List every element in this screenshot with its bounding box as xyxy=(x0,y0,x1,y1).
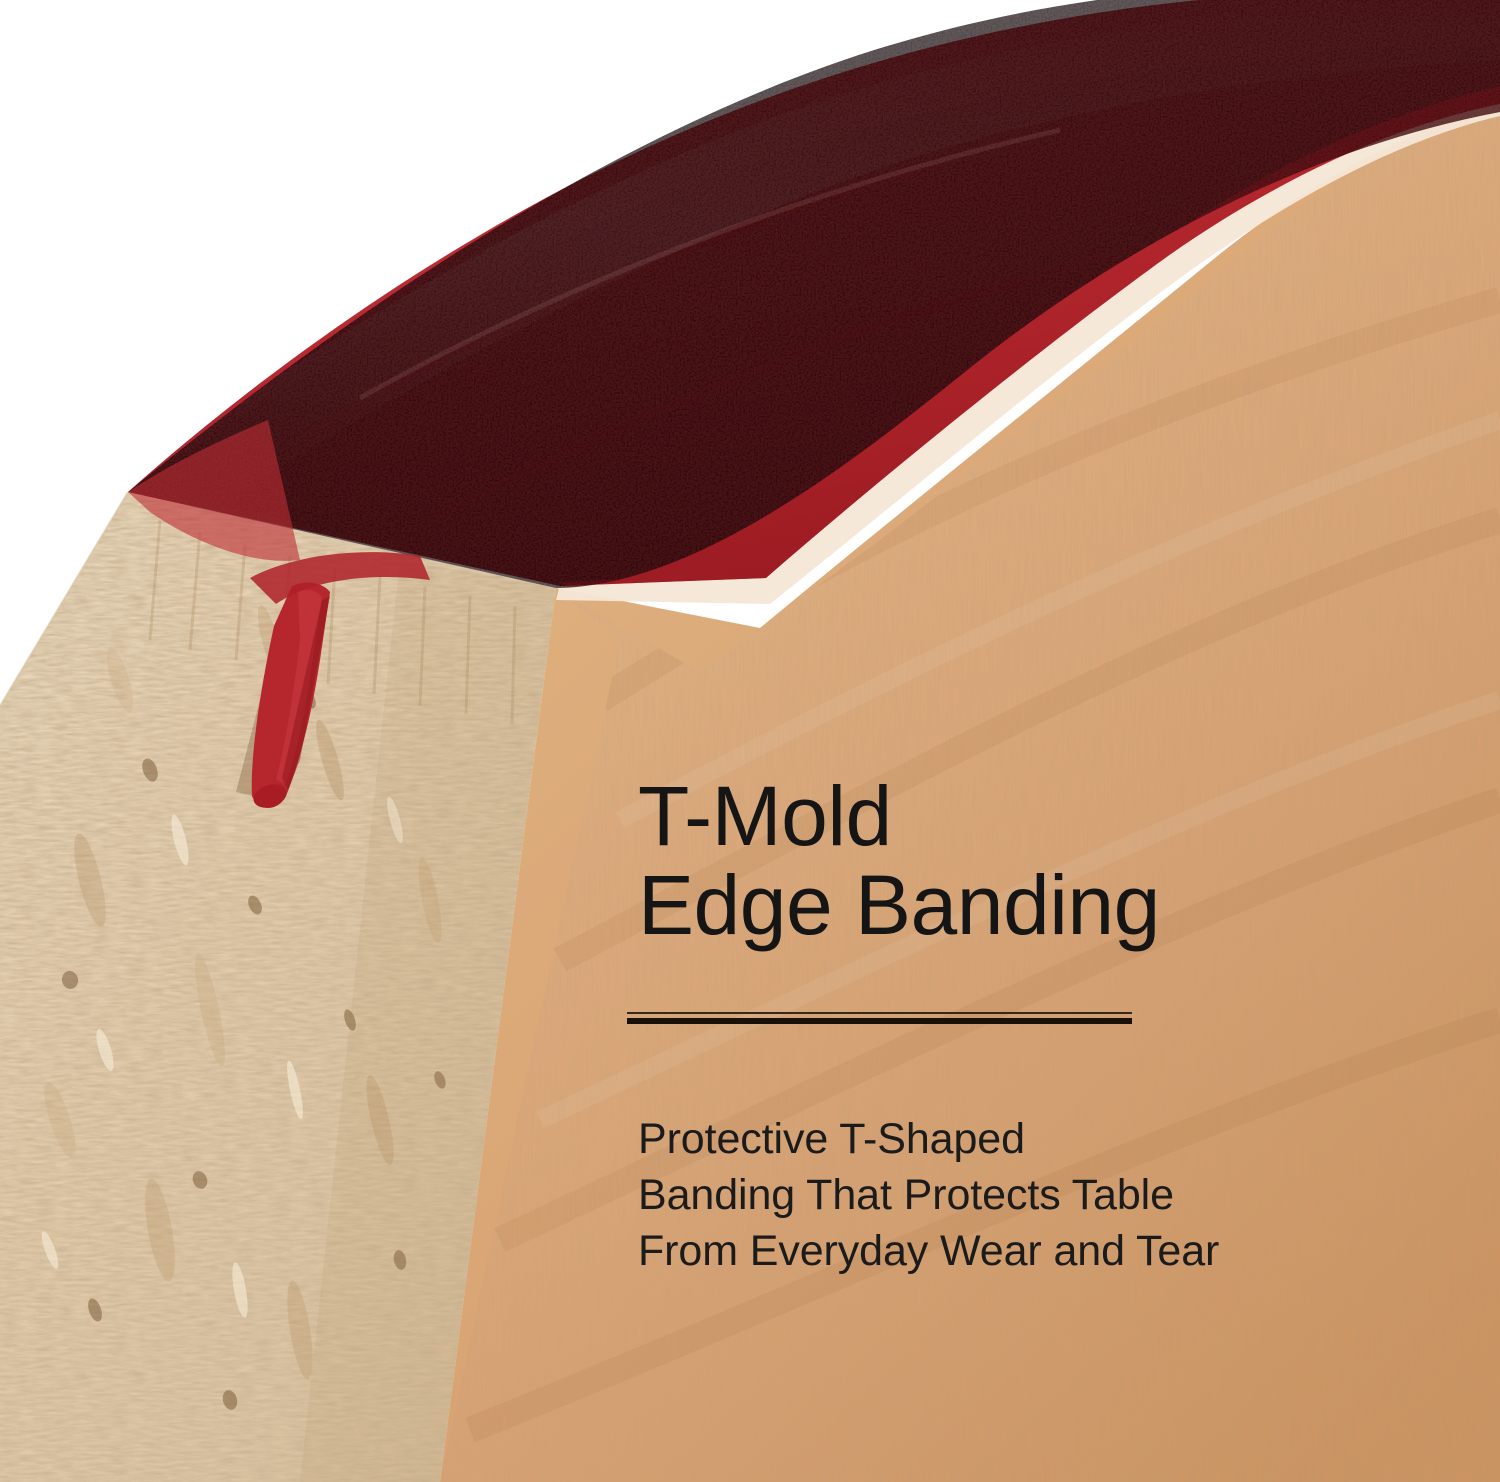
marketing-copy-block: T-Mold Edge Banding Protective T-Shaped … xyxy=(638,772,1398,1323)
divider xyxy=(627,1012,1132,1024)
divider-rule-thin xyxy=(627,1012,1132,1014)
product-description: Protective T-Shaped Banding That Protect… xyxy=(638,1112,1398,1280)
divider-rule-thick xyxy=(627,1018,1132,1024)
product-marketing-image: T-Mold Edge Banding Protective T-Shaped … xyxy=(0,0,1500,1482)
page-title: T-Mold Edge Banding xyxy=(638,772,1398,950)
